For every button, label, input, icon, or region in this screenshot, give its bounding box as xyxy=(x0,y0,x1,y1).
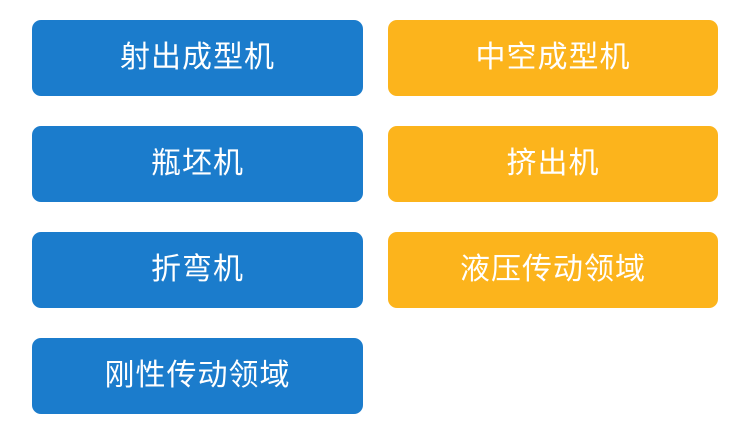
tag-button-label: 折弯机 xyxy=(151,255,244,285)
tag-button-preform-machine[interactable]: 瓶坯机 xyxy=(32,126,363,202)
tag-button-label: 中空成型机 xyxy=(476,43,631,73)
tag-button-hydraulic-transmission-field[interactable]: 液压传动领域 xyxy=(388,232,718,308)
tag-button-extruder[interactable]: 挤出机 xyxy=(388,126,718,202)
left-column-blue: 射出成型机 瓶坯机 折弯机 刚性传动领域 xyxy=(32,0,363,429)
tag-button-injection-molding-machine[interactable]: 射出成型机 xyxy=(32,20,363,96)
tag-button-label: 液压传动领域 xyxy=(460,255,646,285)
tag-button-rigid-transmission-field[interactable]: 刚性传动领域 xyxy=(32,338,363,414)
tag-button-blow-molding-machine[interactable]: 中空成型机 xyxy=(388,20,718,96)
right-column-orange: 中空成型机 挤出机 液压传动领域 xyxy=(388,0,719,429)
tag-button-label: 挤出机 xyxy=(507,149,600,179)
tag-button-label: 瓶坯机 xyxy=(151,149,244,179)
tag-button-label: 刚性传动领域 xyxy=(105,361,291,391)
tag-button-label: 射出成型机 xyxy=(120,43,275,73)
tag-button-bending-machine[interactable]: 折弯机 xyxy=(32,232,363,308)
tag-button-board: 射出成型机 瓶坯机 折弯机 刚性传动领域 中空成型机 挤出机 液压传动领域 xyxy=(0,0,750,429)
